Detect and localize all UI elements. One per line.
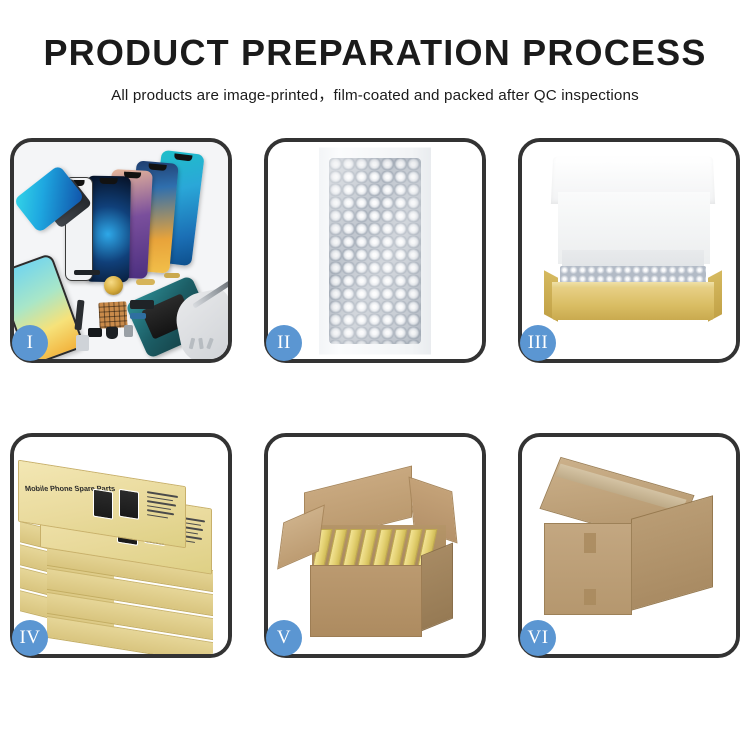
sim-tray-part (76, 335, 89, 351)
flex-cable-part-3 (74, 300, 84, 331)
box-spec-lines-1 (147, 491, 178, 523)
process-steps-grid: I II III (10, 138, 740, 658)
page-title: PRODUCT PREPARATION PROCESS (0, 34, 750, 72)
step-image-1 (14, 142, 228, 359)
flex-cable-part-1 (74, 270, 100, 275)
step-badge-2: II (266, 325, 302, 361)
bubble-wrap-gloss (329, 158, 421, 344)
step-badge-5: V (266, 620, 302, 656)
camera-module-part (88, 328, 102, 337)
step-badge-4: IV (12, 620, 48, 656)
antenna-part (164, 273, 180, 278)
kraft-box-stack: Mobile Phone Spare Parts Mobile Phone Sp… (14, 437, 228, 654)
step-panel-6: VI (518, 433, 740, 658)
flex-cable-part-5 (130, 313, 146, 319)
screws-group (190, 338, 220, 350)
step-image-4: Mobile Phone Spare Parts Mobile Phone Sp… (14, 437, 228, 654)
page-header: PRODUCT PREPARATION PROCESS All products… (0, 0, 750, 105)
box-screen-graphic-1b (119, 489, 139, 520)
chip-array-part (98, 301, 127, 328)
box-screen-graphic-1a (93, 489, 113, 520)
step-image-2 (268, 142, 482, 359)
page-subtitle: All products are image-printed，film-coat… (0, 83, 750, 105)
inner-box-front-wall (552, 288, 714, 320)
step-badge-6: VI (520, 620, 556, 656)
flex-cable-part-2 (136, 279, 155, 285)
phone-products-illustration (14, 142, 228, 359)
carton-right-side (421, 543, 453, 632)
step-panel-1: I (10, 138, 232, 363)
step-image-5 (268, 437, 482, 654)
step-image-6 (522, 437, 736, 654)
step-image-3 (522, 142, 736, 359)
taptic-engine-part (106, 327, 118, 339)
carton-seam-upper (584, 533, 596, 553)
step-panel-2: II (264, 138, 486, 363)
flex-cable-part-4 (130, 300, 154, 309)
carton-seam-lower (584, 589, 596, 605)
step-badge-1: I (12, 325, 48, 361)
connector-part (124, 325, 133, 337)
step-panel-3: III (518, 138, 740, 363)
step-badge-3: III (520, 325, 556, 361)
speaker-part-icon (104, 276, 123, 295)
step-panel-5: V (264, 433, 486, 658)
carton-front-face (310, 565, 422, 637)
step-panel-4: Mobile Phone Spare Parts Mobile Phone Sp… (10, 433, 232, 658)
